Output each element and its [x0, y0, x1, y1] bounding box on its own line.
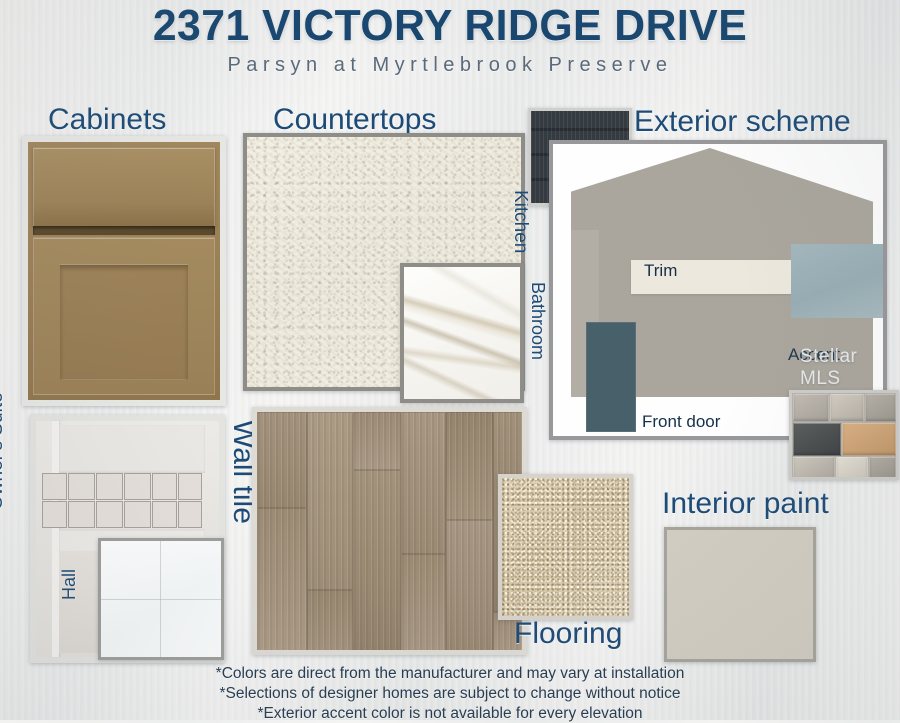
front-door-label: Front door — [642, 412, 720, 432]
flooring-carpet-sample — [498, 474, 633, 620]
accent-color-swatch — [791, 244, 883, 318]
trim-label: Trim — [644, 261, 677, 281]
disclaimer-line-3: *Exterior accent color is not available … — [0, 704, 900, 723]
cabinet-door-panel — [60, 264, 188, 380]
floor-plank — [257, 508, 307, 655]
wall-tile-unit — [68, 501, 95, 528]
interior-paint-swatch — [664, 527, 816, 662]
floor-plank — [446, 520, 493, 655]
stone-block — [836, 457, 868, 480]
flooring-plank-sample — [252, 407, 527, 655]
hall-tile-seam — [160, 541, 161, 657]
bathroom-marble-texture — [404, 267, 520, 399]
stone-block — [793, 457, 835, 480]
stone-veneer-swatch — [789, 390, 899, 480]
floor-plank — [401, 412, 446, 554]
floor-plank — [307, 590, 353, 655]
wall-tile-unit — [68, 473, 95, 500]
wall-tile-unit — [124, 473, 151, 500]
hall-tile-seam — [101, 599, 221, 600]
cabinet-sample — [22, 136, 226, 406]
floor-plank — [446, 412, 493, 520]
wall-tile-hall-sample — [98, 538, 224, 660]
floor-plank — [401, 554, 446, 655]
disclaimer-line-1: *Colors are direct from the manufacturer… — [0, 664, 900, 684]
wall-tile-unit — [42, 501, 67, 528]
wall-tile-unit — [124, 501, 151, 528]
floor-plank — [353, 412, 401, 470]
wall-tile-hall-label: Hall — [59, 569, 80, 600]
wall-tile-unit — [178, 501, 202, 528]
carpet-texture — [502, 478, 629, 616]
wall-tile-unit — [178, 473, 202, 500]
floor-plank — [257, 412, 307, 508]
hall-tile-surface — [101, 541, 221, 657]
accent-label: Accent — [788, 345, 840, 365]
floor-plank — [307, 412, 353, 590]
section-heading-countertops: Countertops — [273, 103, 436, 137]
countertop-bathroom-sample — [400, 263, 524, 403]
disclaimer-line-2: *Selections of designer homes are subjec… — [0, 684, 900, 704]
stone-block — [830, 394, 864, 422]
section-heading-interior-paint: Interior paint — [662, 487, 829, 521]
design-selection-board: 2371 VICTORY RIDGE DRIVE Parsyn at Myrtl… — [0, 0, 900, 720]
stone-block — [842, 423, 896, 456]
section-heading-exterior-scheme: Exterior scheme — [634, 105, 851, 139]
disclaimer: *Colors are direct from the manufacturer… — [0, 664, 900, 723]
wall-tile-vertical-trim — [52, 421, 59, 657]
wall-tile-upper-field — [59, 425, 205, 473]
section-heading-cabinets: Cabinets — [48, 103, 166, 137]
cabinet-reveal-shadow — [33, 226, 215, 235]
stone-block — [793, 423, 841, 456]
cabinet-drawer-front — [33, 147, 215, 227]
cabinet-finish — [28, 142, 220, 400]
house-roof-shape — [571, 148, 873, 232]
community-subtitle: Parsyn at Myrtlebrook Preserve — [0, 54, 900, 77]
wall-tile-unit — [152, 473, 177, 500]
cabinet-door-front — [33, 237, 215, 395]
wall-tile-unit — [96, 473, 123, 500]
wall-tile-owners-suite-label: Owner's Suite — [0, 392, 8, 510]
stone-block — [869, 457, 896, 480]
wall-tile-accent-band — [42, 473, 207, 529]
front-door-swatch — [586, 322, 636, 432]
wall-tile-unit — [42, 473, 67, 500]
countertop-bathroom-label: Bathroom — [527, 282, 548, 360]
section-heading-flooring: Flooring — [514, 617, 622, 651]
stone-block — [865, 394, 896, 422]
wall-tile-unit — [152, 501, 177, 528]
page-title: 2371 VICTORY RIDGE DRIVE — [14, 4, 887, 49]
wall-tile-unit — [96, 501, 123, 528]
floor-plank — [353, 470, 401, 655]
stone-block — [793, 394, 829, 422]
board-header: 2371 VICTORY RIDGE DRIVE Parsyn at Myrtl… — [0, 4, 900, 77]
